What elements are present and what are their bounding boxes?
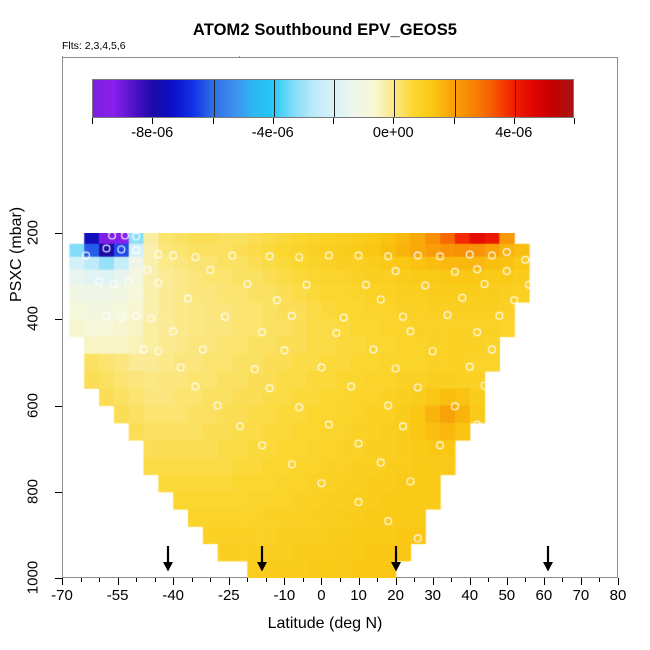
y-axis-tick-label: 200 [25, 216, 42, 250]
y-axis-tick-label: 800 [25, 474, 42, 508]
x-axis-tick [507, 578, 508, 585]
colorbar-divider [334, 80, 335, 117]
colorbar-tick [393, 118, 394, 124]
x-axis-tick [581, 578, 582, 585]
latitude-marker-arrow [390, 546, 401, 572]
y-axis-title: PSXC (mbar) [8, 207, 26, 302]
chart-title: ATOM2 Southbound EPV_GEOS5 [0, 21, 650, 40]
colorbar-tick [213, 118, 214, 124]
latitude-marker-arrow [257, 546, 268, 572]
colorbar-tick [574, 118, 575, 124]
y-axis-tick [55, 233, 62, 234]
x-axis-minor-tick [210, 578, 211, 582]
figure-root: ATOM2 Southbound EPV_GEOS5 Flts: 2,3,4,5… [0, 0, 650, 650]
colorbar-tick-label: 0e+00 [373, 125, 414, 141]
colorbar-tick [514, 118, 515, 124]
x-axis-minor-tick [414, 578, 415, 582]
x-axis-minor-tick [340, 578, 341, 582]
colorbar-tick-label: 4e-06 [495, 125, 532, 141]
x-axis-minor-tick [303, 578, 304, 582]
x-axis-tick-label: 70 [573, 587, 590, 604]
x-axis-minor-tick [377, 578, 378, 582]
colorbar-tick [92, 118, 93, 124]
x-axis-tick [284, 578, 285, 585]
x-axis-tick [433, 578, 434, 585]
x-axis-minor-tick [247, 578, 248, 582]
x-axis-minor-tick [136, 578, 137, 582]
x-axis-tick [118, 578, 119, 585]
colorbar-tick [333, 118, 334, 124]
heatmap-canvas [62, 233, 618, 578]
x-axis-minor-tick [192, 578, 193, 582]
plot-data-area [62, 233, 618, 578]
x-axis-tick-label: -55 [107, 587, 129, 604]
y-axis-tick-label: 600 [25, 388, 42, 422]
x-axis-tick-label: 30 [424, 587, 441, 604]
colorbar-divider [455, 80, 456, 117]
colorbar-tick-label: -8e-06 [131, 125, 173, 141]
y-axis-tick [55, 578, 62, 579]
x-axis-tick-label: 10 [350, 587, 367, 604]
x-axis-tick-label: 50 [498, 587, 515, 604]
colorbar-tick [152, 118, 153, 124]
y-axis-tick [55, 406, 62, 407]
x-axis-minor-tick [562, 578, 563, 582]
x-axis-tick [470, 578, 471, 585]
colorbar-divider [274, 80, 275, 117]
x-axis-minor-tick [99, 578, 100, 582]
colorbar-gradient-fill [93, 80, 573, 117]
x-axis-tick [173, 578, 174, 585]
x-axis-minor-tick [451, 578, 452, 582]
x-axis-tick [396, 578, 397, 585]
x-axis-tick [544, 578, 545, 585]
colorbar-divider [153, 80, 154, 117]
colorbar-gradient [92, 79, 574, 118]
x-axis-tick [62, 578, 63, 585]
x-axis-tick-label: 80 [610, 587, 627, 604]
latitude-marker-arrow [542, 546, 553, 572]
colorbar-tick [454, 118, 455, 124]
colorbar-divider [214, 80, 215, 117]
x-axis-title: Latitude (deg N) [0, 615, 650, 633]
x-axis-tick-label: 0 [317, 587, 325, 604]
x-axis-tick [618, 578, 619, 585]
flights-annotation: Flts: 2,3,4,5,6 [62, 40, 126, 52]
x-axis-minor-tick [488, 578, 489, 582]
latitude-marker-arrow [162, 546, 173, 572]
y-axis-tick [55, 319, 62, 320]
x-axis-minor-tick [81, 578, 82, 582]
x-axis-tick-label: -70 [51, 587, 73, 604]
x-axis-tick-label: -10 [274, 587, 296, 604]
colorbar-tick [273, 118, 274, 124]
x-axis-minor-tick [266, 578, 267, 582]
y-axis-tick-label: 1000 [25, 561, 42, 595]
colorbar-tick-label: -4e-06 [252, 125, 294, 141]
x-axis-tick-label: -40 [162, 587, 184, 604]
x-axis-minor-tick [599, 578, 600, 582]
y-axis-tick [55, 492, 62, 493]
x-axis-tick-label: -25 [218, 587, 240, 604]
x-axis-tick [359, 578, 360, 585]
x-axis-tick-label: 20 [387, 587, 404, 604]
x-axis-tick-label: 60 [536, 587, 553, 604]
colorbar: -8e-06-4e-060e+004e-06 [92, 79, 574, 118]
x-axis-tick-label: 40 [461, 587, 478, 604]
colorbar-divider [394, 80, 395, 117]
x-axis-tick [229, 578, 230, 585]
x-axis-minor-tick [155, 578, 156, 582]
y-axis-tick-label: 400 [25, 302, 42, 336]
x-axis-tick [321, 578, 322, 585]
colorbar-divider [515, 80, 516, 117]
x-axis-minor-tick [525, 578, 526, 582]
